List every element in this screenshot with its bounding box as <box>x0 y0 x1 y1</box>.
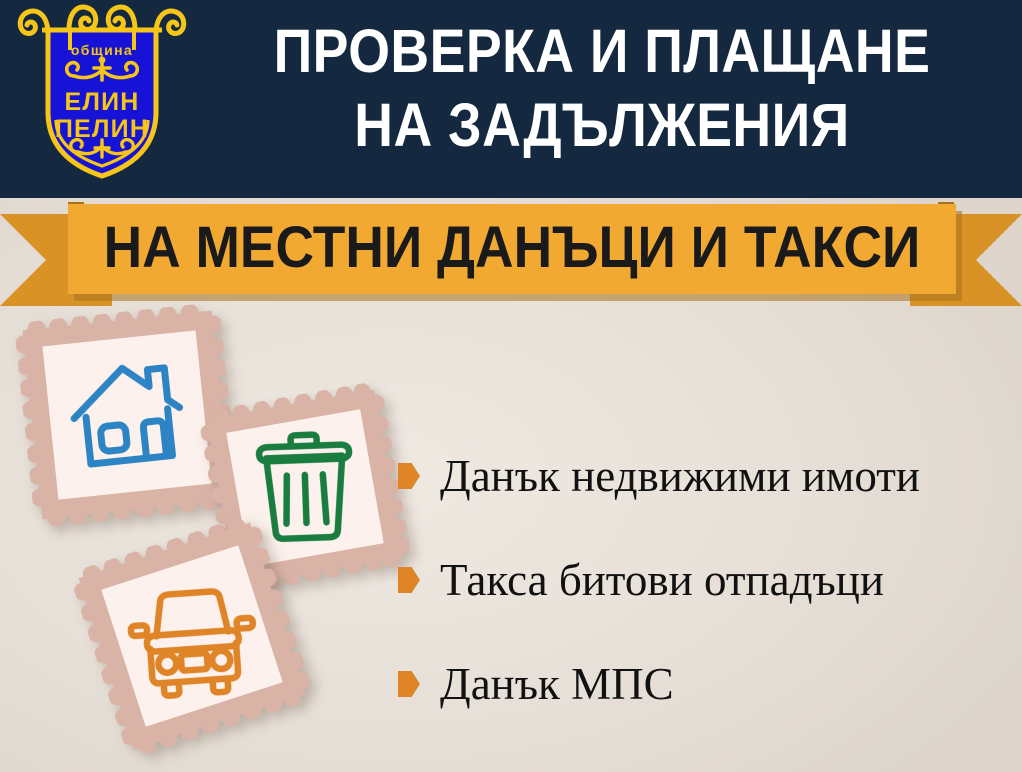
crest-name-line-1: ЕЛИН <box>64 88 139 116</box>
list-item-label: Такса битови отпадъци <box>440 554 884 606</box>
list-item: Такса битови отпадъци <box>398 528 1010 632</box>
page-title-line-2: НА ЗАДЪЛЖЕНИЯ <box>245 88 960 162</box>
list-item: Данък недвижими имоти <box>398 424 1010 528</box>
page-title-line-1: ПРОВЕРКА И ПЛАЩАНЕ <box>245 14 960 88</box>
list-item: Данък МПС <box>398 632 1010 736</box>
arrow-right-bullet-icon <box>398 567 420 593</box>
ribbon-banner: НА МЕСТНИ ДАНЪЦИ И ТАКСИ <box>0 198 1022 310</box>
stamp-paper-house <box>42 330 211 499</box>
page-title: ПРОВЕРКА И ПЛАЩАНЕ НА ЗАДЪЛЖЕНИЯ <box>245 14 960 162</box>
arrow-right-bullet-icon <box>398 671 420 697</box>
tax-type-list: Данък недвижими имоти Такса битови отпад… <box>398 424 1010 736</box>
list-item-label: Данък недвижими имоти <box>440 450 920 502</box>
crest-top-label: община <box>71 42 133 58</box>
elin-pelin-municipality-crest-icon: община ЕЛИН ПЕЛИН <box>12 0 192 190</box>
ribbon-subtitle: НА МЕСТНИ ДАНЪЦИ И ТАКСИ <box>104 213 921 283</box>
ribbon-main-plate: НА МЕСТНИ ДАНЪЦИ И ТАКСИ <box>68 204 956 294</box>
list-item-label: Данък МПС <box>440 658 674 710</box>
arrow-right-bullet-icon <box>398 463 420 489</box>
header-banner: община ЕЛИН ПЕЛИН <box>0 0 1022 198</box>
poster-root: община ЕЛИН ПЕЛИН <box>0 0 1022 772</box>
